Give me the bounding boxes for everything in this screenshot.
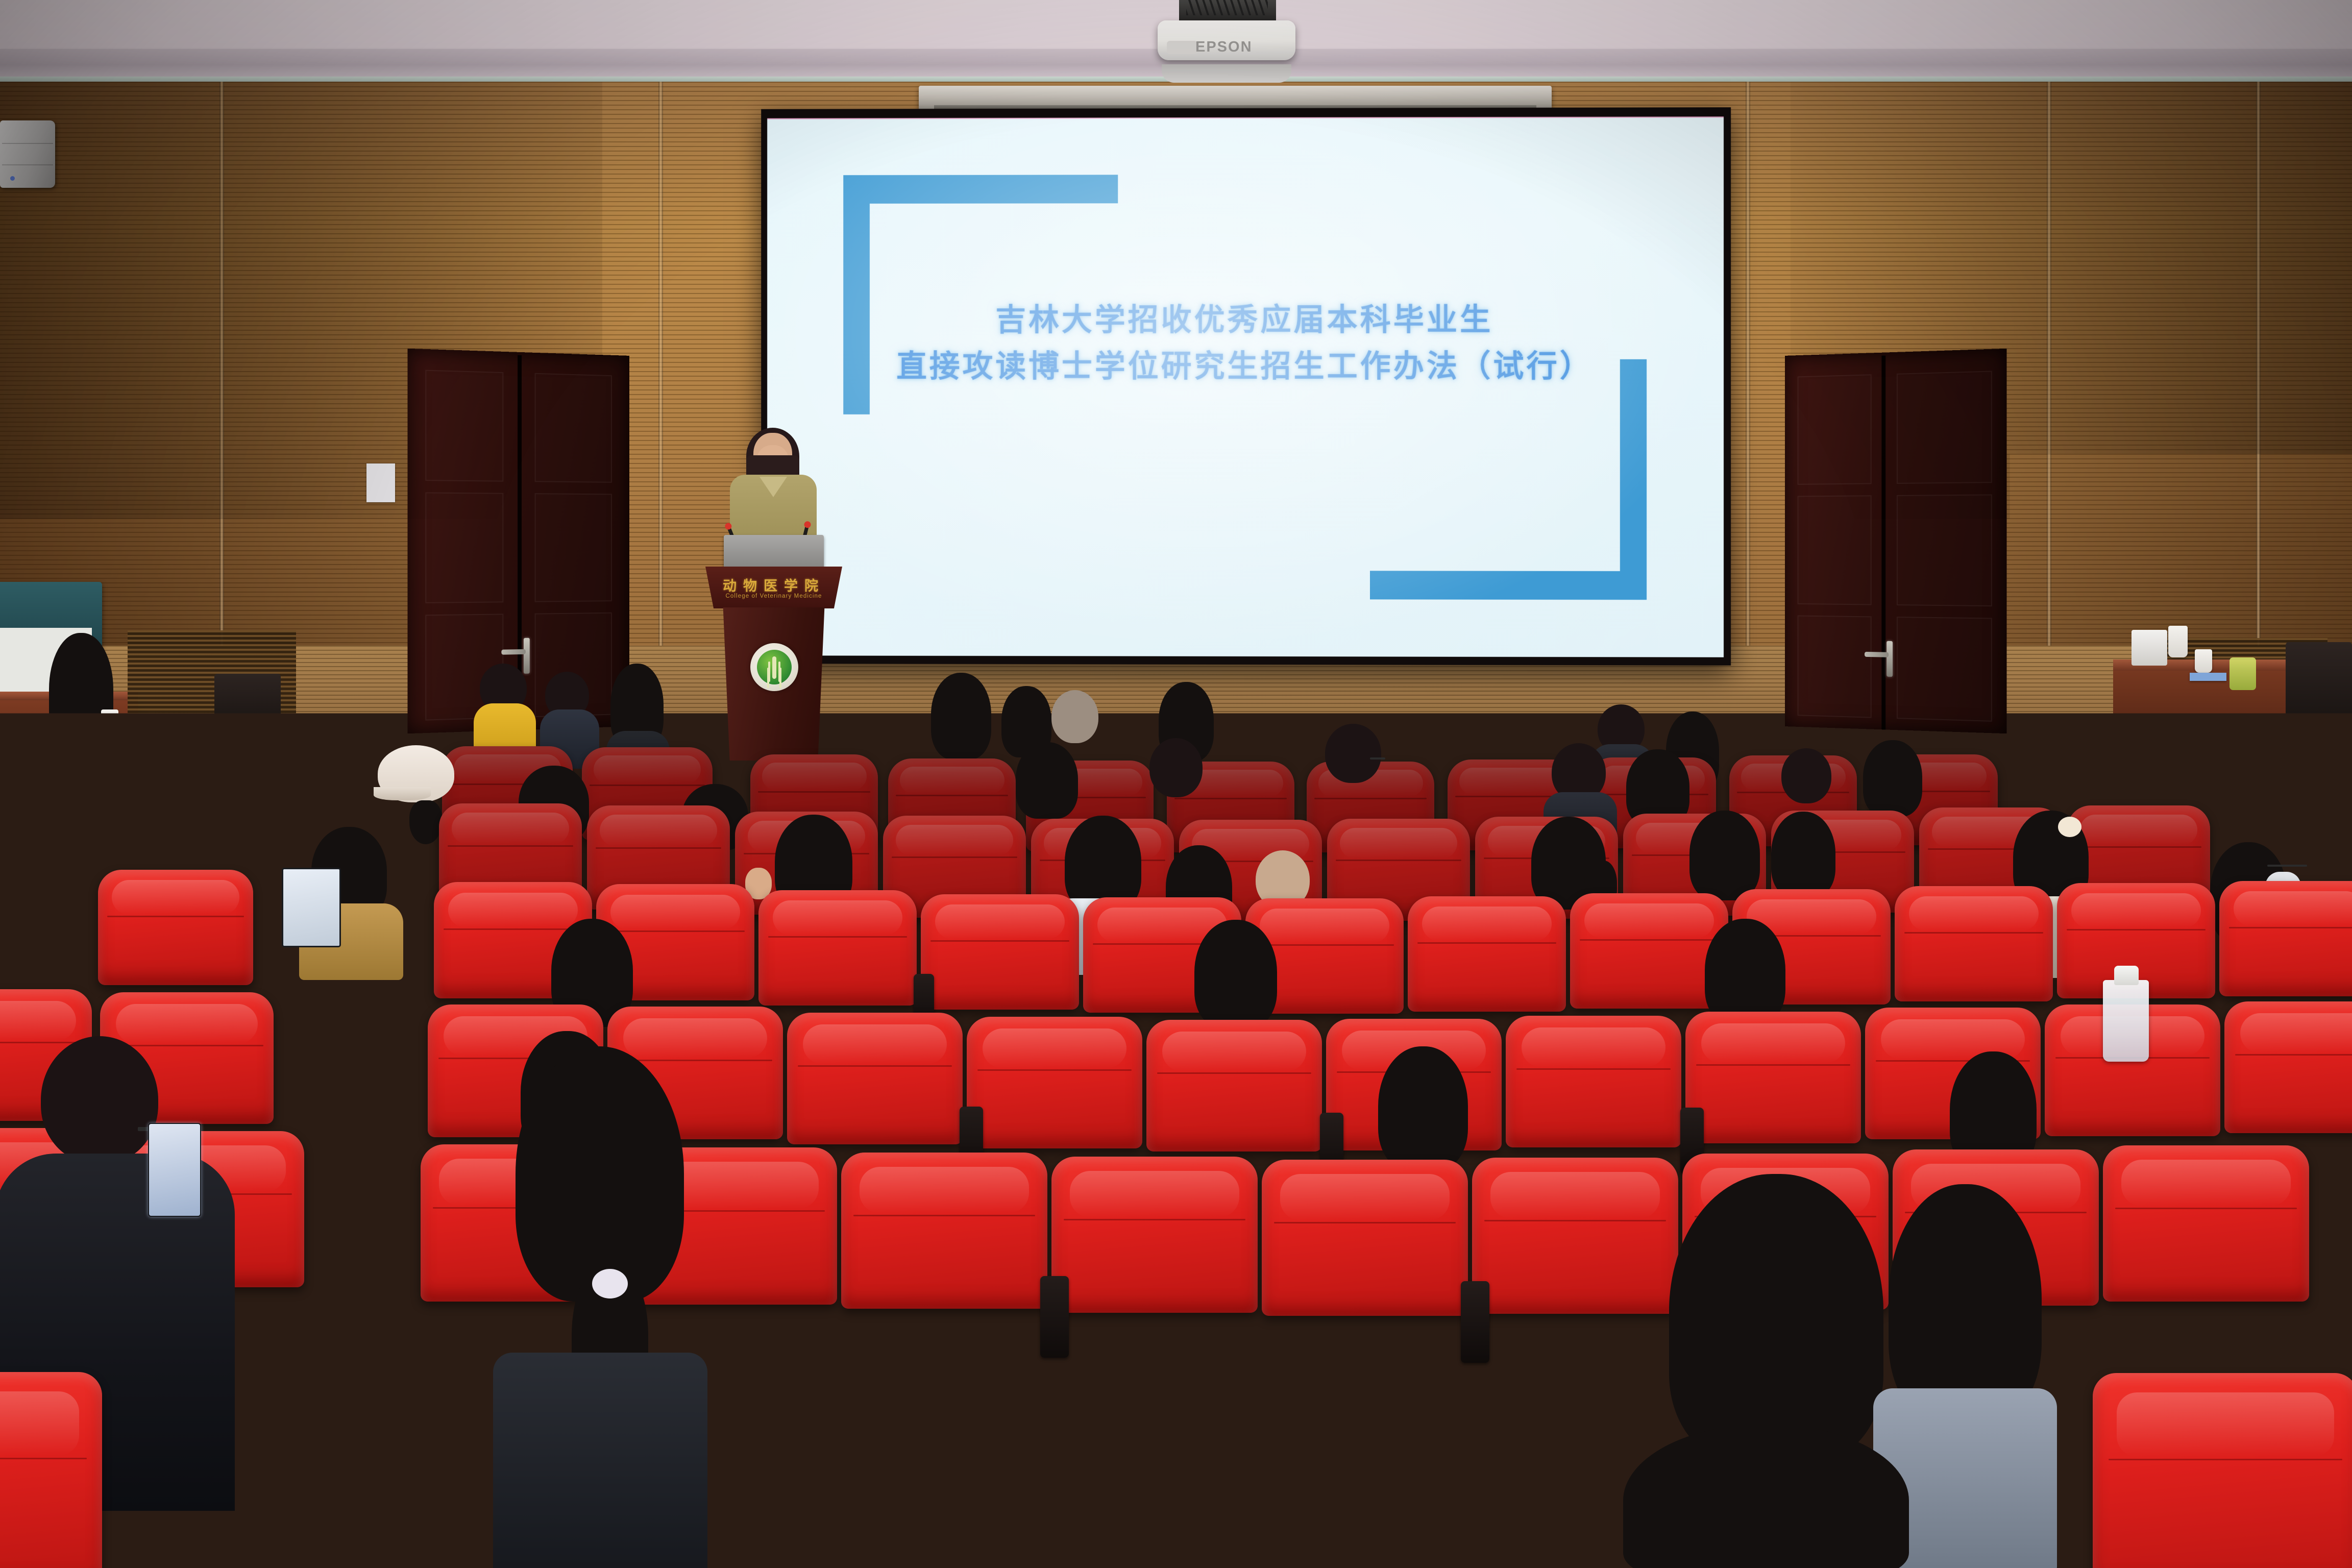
seat[interactable] xyxy=(758,890,917,1006)
seat[interactable] xyxy=(921,894,1079,1010)
wall-seam xyxy=(2047,82,2051,730)
wall-seam xyxy=(1746,82,1750,730)
seat[interactable] xyxy=(0,1372,102,1568)
speaker-led-icon xyxy=(10,176,15,181)
seat[interactable] xyxy=(841,1153,1047,1309)
right-paper-cup-tall xyxy=(2168,626,2188,657)
seat[interactable] xyxy=(787,1013,963,1144)
seat[interactable] xyxy=(791,1393,1046,1568)
right-paper-cup xyxy=(2195,649,2212,673)
slide-bracket-bottom-right-vertical xyxy=(1620,359,1647,600)
tablet-device[interactable] xyxy=(282,868,341,947)
right-door-handle[interactable] xyxy=(1886,641,1893,677)
armrest xyxy=(1040,1276,1069,1358)
university-emblem-icon xyxy=(750,643,798,691)
seat[interactable] xyxy=(194,1378,449,1568)
right-desk-paper-sheet xyxy=(2231,729,2307,751)
right-door[interactable] xyxy=(1785,349,2007,733)
seat[interactable] xyxy=(1895,886,2053,1001)
projector-underside xyxy=(1162,64,1291,83)
armrest xyxy=(1228,1460,1264,1568)
green-bottle xyxy=(2229,657,2256,690)
seat[interactable] xyxy=(1146,1020,1322,1151)
bottle-cap-icon xyxy=(2114,966,2139,985)
podium: 动物医学院 College of Veterinary Medicine xyxy=(705,567,842,761)
seat[interactable] xyxy=(1685,1012,1861,1143)
slide-title-line-1: 吉林大学招收优秀应届本科毕业生 xyxy=(767,297,1724,344)
seat[interactable] xyxy=(98,870,253,985)
left-chair xyxy=(214,674,281,735)
left-door-handle[interactable] xyxy=(524,638,530,674)
slide-bracket-bottom-right-horizontal xyxy=(1370,571,1647,600)
ceiling-projector: EPSON xyxy=(1158,9,1295,76)
left-door-sign xyxy=(366,463,395,502)
seat[interactable] xyxy=(2219,881,2352,996)
seat[interactable] xyxy=(1327,1393,1582,1568)
slide-canvas: 吉林大学招收优秀应届本科毕业生 直接攻读博士学位研究生招生工作办法（试行） xyxy=(767,116,1724,657)
projector-brand-label: EPSON xyxy=(1195,39,1253,56)
seat[interactable] xyxy=(1051,1157,1258,1313)
slide-title: 吉林大学招收优秀应届本科毕业生 直接攻读博士学位研究生招生工作办法（试行） xyxy=(767,297,1724,390)
wall-seam xyxy=(2256,82,2261,730)
slide-bracket-top-left-horizontal xyxy=(843,175,1118,204)
podium-label-en: College of Veterinary Medicine xyxy=(705,593,842,599)
smartphone[interactable] xyxy=(148,1123,201,1217)
seat[interactable] xyxy=(1408,896,1566,1012)
seat[interactable] xyxy=(1506,1016,1681,1147)
water-bottle[interactable] xyxy=(2103,980,2149,1062)
projector-lens-icon xyxy=(1167,41,1197,54)
tissue-box xyxy=(2131,630,2167,666)
projector-cables xyxy=(1186,0,1268,15)
wall-seam xyxy=(658,82,663,730)
hair-clip xyxy=(2058,817,2081,837)
seat[interactable] xyxy=(0,868,94,983)
seat[interactable] xyxy=(2093,1373,2352,1568)
armrest xyxy=(1461,1281,1489,1363)
red-folder xyxy=(2201,727,2233,738)
projection-screen: 吉林大学招收优秀应届本科毕业生 直接攻读博士学位研究生招生工作办法（试行） xyxy=(761,107,1731,666)
seat[interactable] xyxy=(2224,1001,2352,1133)
seat[interactable] xyxy=(1262,1160,1468,1316)
seat[interactable] xyxy=(967,1017,1142,1148)
right-chair xyxy=(2286,642,2352,734)
seat[interactable] xyxy=(1472,1158,1678,1314)
slide-title-line-2: 直接攻读博士学位研究生招生工作办法（试行） xyxy=(767,344,1724,390)
wall-speaker-icon xyxy=(0,120,55,188)
right-desk-papers xyxy=(2190,673,2226,681)
projector-body: EPSON xyxy=(1158,20,1295,60)
podium-label-cn: 动物医学院 xyxy=(705,575,842,595)
seat[interactable] xyxy=(2103,1145,2309,1302)
lecture-hall-photo: EPSON 吉林大学招收优秀应届本科毕业生 直接攻读博士学位研究生招生工作办法（… xyxy=(0,0,2352,1568)
